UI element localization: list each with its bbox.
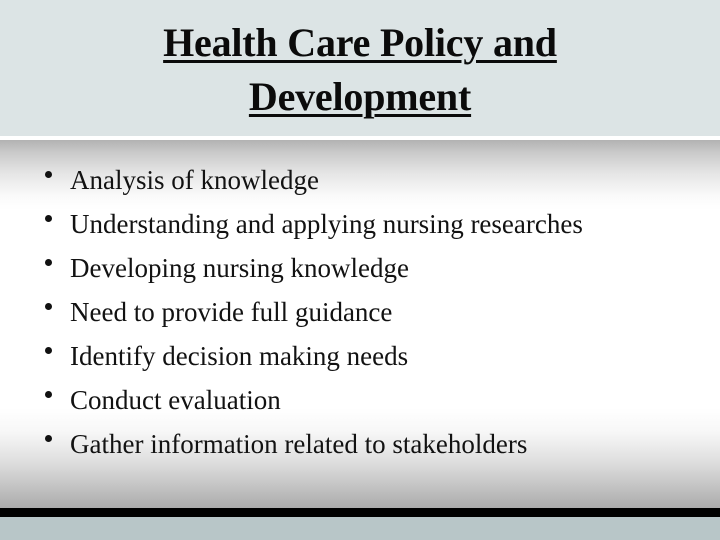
list-item: Need to provide full guidance: [0, 290, 720, 334]
bullet-dot-icon: [45, 435, 52, 442]
list-item-label: Conduct evaluation: [70, 378, 710, 422]
list-item-label: Developing nursing knowledge: [70, 246, 710, 290]
bullet-list: Analysis of knowledge Understanding and …: [0, 140, 720, 466]
list-item: Analysis of knowledge: [0, 158, 720, 202]
slide: Health Care Policy and Development Analy…: [0, 0, 720, 540]
bullet-dot-icon: [45, 171, 52, 178]
list-item: Developing nursing knowledge: [0, 246, 720, 290]
bullet-dot-icon: [45, 259, 52, 266]
list-item: Conduct evaluation: [0, 378, 720, 422]
bullet-dot-icon: [45, 215, 52, 222]
list-item: Gather information related to stakeholde…: [0, 422, 720, 466]
bullet-dot-icon: [45, 303, 52, 310]
footer-band: fppt.com: [0, 517, 720, 540]
list-item-label: Analysis of knowledge: [70, 158, 710, 202]
bullet-dot-icon: [45, 391, 52, 398]
list-item-label: Understanding and applying nursing resea…: [70, 202, 710, 246]
list-item-label: Need to provide full guidance: [70, 290, 710, 334]
list-item: Identify decision making needs: [0, 334, 720, 378]
list-item-label: Gather information related to stakeholde…: [70, 422, 710, 466]
list-item-label: Identify decision making needs: [70, 334, 710, 378]
bullet-dot-icon: [45, 347, 52, 354]
list-item: Understanding and applying nursing resea…: [0, 202, 720, 246]
footer-rule: [0, 508, 720, 517]
page-title: Health Care Policy and Development: [60, 16, 660, 124]
